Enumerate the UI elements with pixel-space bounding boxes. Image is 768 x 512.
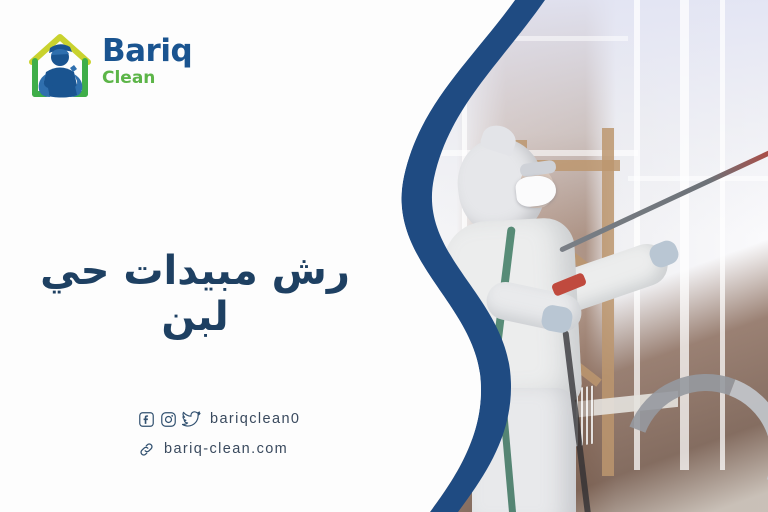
page-title: رش مبيدات حي لبن (0, 248, 390, 340)
worker-legs (472, 388, 576, 512)
hero-photo (388, 0, 768, 512)
link-icon[interactable] (138, 441, 155, 458)
website-icon-wrap (138, 441, 155, 458)
decorative-blob (0, 408, 115, 512)
facebook-icon[interactable] (138, 411, 155, 428)
brand-logo[interactable]: Bariq Clean (26, 28, 206, 100)
brand-name: Bariq (102, 36, 192, 67)
brand-tagline: Clean (102, 70, 192, 87)
contact-info: bariqclean0 bariq-clean.com (138, 404, 398, 464)
social-icons (138, 411, 201, 428)
website-row: bariq-clean.com (138, 434, 398, 464)
window-frame-horizontal (388, 36, 628, 41)
website-url[interactable]: bariq-clean.com (164, 441, 288, 457)
photo-background (388, 0, 768, 512)
banner: Bariq Clean رش مبيدات حي لبن (0, 0, 768, 512)
house-worker-logo-icon (26, 28, 98, 100)
window-mullion (406, 0, 413, 420)
spray-lance (559, 121, 768, 252)
brand-wordmark: Bariq Clean (102, 36, 192, 87)
social-row: bariqclean0 (138, 404, 398, 434)
instagram-icon[interactable] (160, 411, 177, 428)
hazmat-worker (424, 120, 674, 512)
worker-respirator-mask (515, 174, 558, 208)
twitter-icon[interactable] (182, 411, 201, 428)
social-handle[interactable]: bariqclean0 (210, 411, 300, 427)
